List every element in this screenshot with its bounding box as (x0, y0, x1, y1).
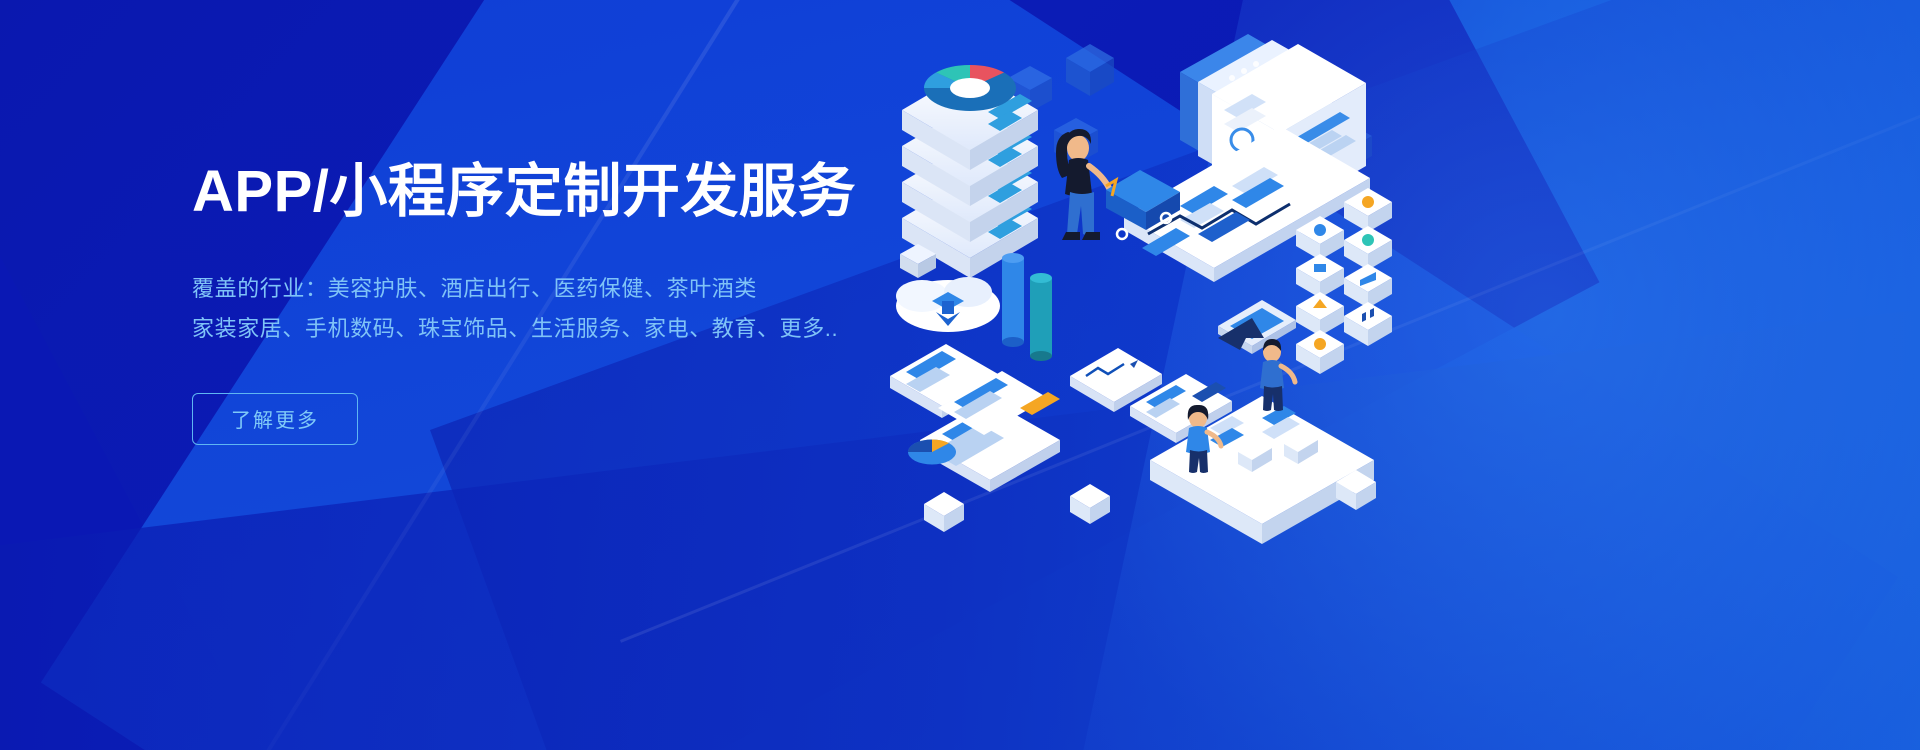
platform-people-icon (1150, 339, 1374, 544)
hero-subtitle: 覆盖的行业：美容护肤、酒店出行、医药保健、茶叶酒类 家装家居、手机数码、珠宝饰品… (192, 269, 972, 349)
page-title: APP/小程序定制开发服务 (192, 160, 972, 225)
subtitle-line-1: 覆盖的行业：美容护肤、酒店出行、医药保健、茶叶酒类 (192, 269, 972, 309)
hero-copy: APP/小程序定制开发服务 覆盖的行业：美容护肤、酒店出行、医药保健、茶叶酒类 … (192, 160, 972, 445)
bar-chart-icon (1002, 253, 1052, 361)
subtitle-line-2: 家装家居、手机数码、珠宝饰品、生活服务、家电、教育、更多.. (192, 309, 972, 349)
learn-more-button[interactable]: 了解更多 (192, 393, 358, 445)
hero-banner: APP/小程序定制开发服务 覆盖的行业：美容护肤、酒店出行、医药保健、茶叶酒类 … (0, 0, 1920, 750)
donut-chart-icon (924, 65, 1016, 111)
